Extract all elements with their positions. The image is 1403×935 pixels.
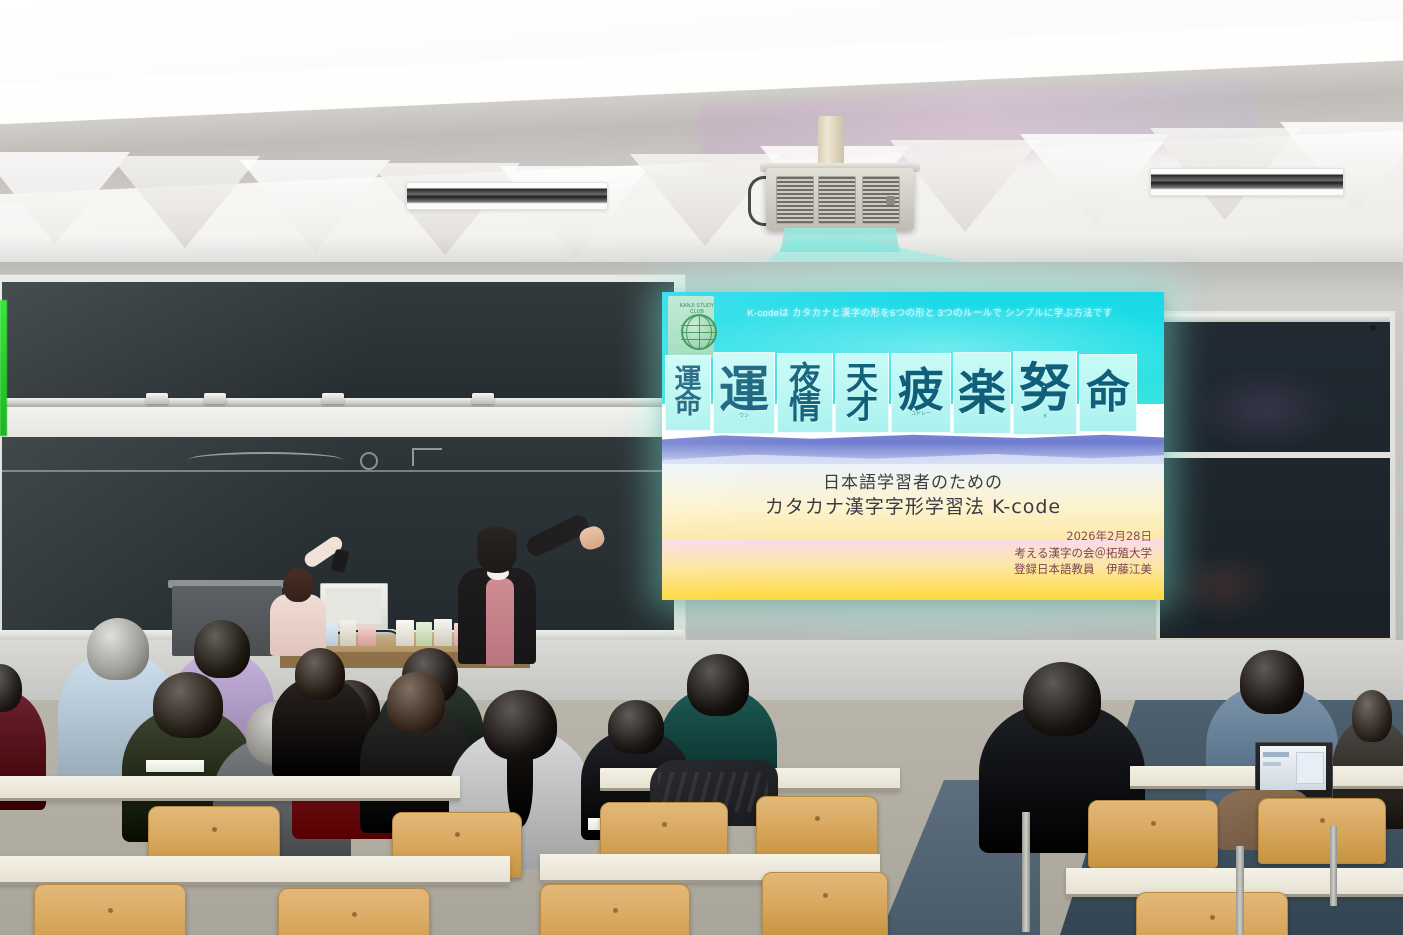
- blackboard-clip: [472, 393, 494, 404]
- desk-row: [0, 776, 460, 801]
- chair-post: [1236, 846, 1244, 935]
- assistant-head: [283, 568, 313, 602]
- papers-on-desk: [146, 760, 204, 772]
- projection-screen: K-codeは カタカナと漢字の形を6つの形と 3つのルールで シンプルに学ぶ方…: [662, 292, 1164, 600]
- chair[interactable]: [762, 872, 888, 935]
- chalk-smudge: [1168, 550, 1278, 620]
- blackboard-clip: [146, 393, 168, 404]
- title-slide: K-codeは カタカナと漢字の形を6つの形と 3つのルールで シンプルに学ぶ方…: [662, 292, 1164, 600]
- chair-post: [1330, 826, 1337, 906]
- chair-post: [1022, 812, 1030, 932]
- chair[interactable]: [278, 888, 430, 935]
- chalk-smudge: [1190, 370, 1340, 450]
- desk-row: [0, 856, 510, 885]
- attendee-head: [608, 700, 664, 754]
- laptop-content: [1263, 762, 1281, 766]
- attendee-head: [295, 648, 345, 700]
- blackboard-clip: [204, 393, 226, 404]
- attendee-head: [687, 654, 749, 716]
- attendee-head: [1352, 690, 1392, 742]
- chair[interactable]: [1136, 892, 1288, 935]
- attendee-head: [1023, 662, 1101, 736]
- chair[interactable]: [34, 884, 186, 935]
- attendee-head: [387, 672, 445, 732]
- chalk-mark: [412, 448, 442, 466]
- presenter-fringe: [477, 527, 517, 549]
- projector-indicator: [886, 196, 895, 205]
- blackboard-clip: [322, 393, 344, 404]
- attendee-head: [153, 672, 223, 738]
- assistant-body: [270, 594, 326, 656]
- attendee-head: [1240, 650, 1304, 714]
- chalk-mark: [360, 452, 378, 470]
- green-exit-light: [0, 300, 7, 436]
- right-blackboard-rail: [1160, 314, 1390, 322]
- chalk-line: [2, 470, 674, 472]
- attendee-head: [87, 618, 149, 680]
- blackboard-sheen: [2, 282, 674, 402]
- blackboard-screw: [1370, 325, 1376, 331]
- chair[interactable]: [1258, 798, 1386, 864]
- chair[interactable]: [1088, 800, 1218, 868]
- chair[interactable]: [540, 884, 690, 935]
- lecture-hall-screenshot: K-codeは カタカナと漢字の形を6つの形と 3つのルールで シンプルに学ぶ方…: [0, 0, 1403, 935]
- presenter-top: [486, 578, 514, 666]
- laptop-content: [1263, 752, 1289, 757]
- attendee-head: [194, 620, 250, 678]
- projector-vent-grille: [818, 176, 856, 224]
- laptop-content: [1296, 752, 1324, 784]
- projector-vent-grille: [776, 176, 814, 224]
- hvac-vent: [406, 182, 608, 210]
- hvac-vent: [1150, 168, 1344, 196]
- chalk-mark: [188, 452, 343, 468]
- chair[interactable]: [756, 796, 878, 860]
- screen-glare: [662, 292, 1164, 600]
- attendee-head: [483, 690, 557, 760]
